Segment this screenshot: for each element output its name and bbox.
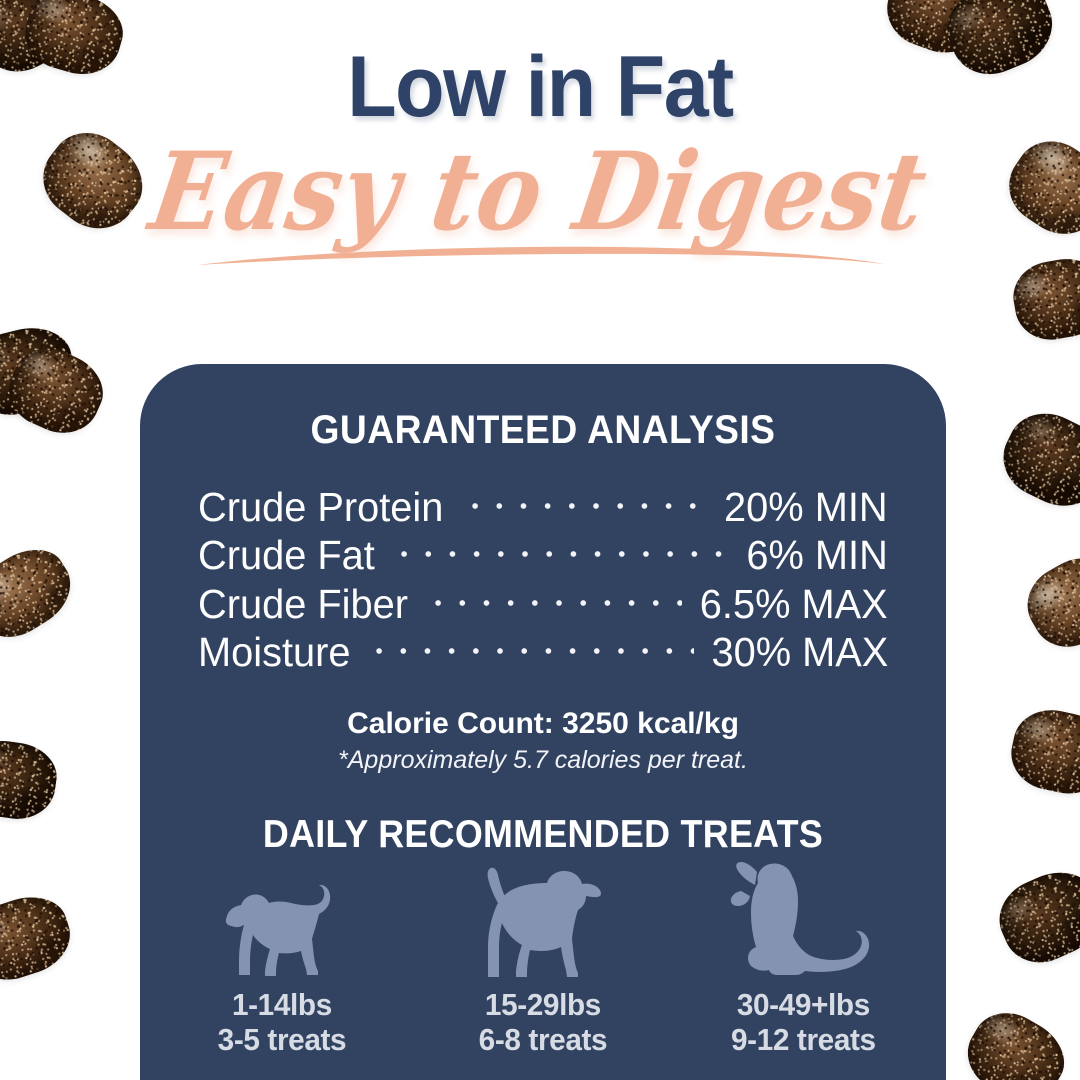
dog-treat-kibble-piece — [991, 400, 1080, 520]
dog-size-guide: 1-14lbs 3-5 treats 15-29lbs 6-8 treats — [140, 875, 946, 1059]
dog-size-label: 30-49+lbs 9-12 treats — [731, 987, 876, 1059]
headline-block: Low in Fat Easy to Digest — [0, 46, 1080, 277]
dog-size-column-large: 30-49+lbs 9-12 treats — [697, 875, 910, 1059]
puppy-silhouette-icon — [219, 875, 345, 979]
leader-dots — [426, 600, 682, 610]
script-headline-wrap: Easy to Digest — [0, 127, 1080, 277]
analysis-value: 30% MAX — [711, 628, 888, 676]
analysis-row: Moisture 30% MAX — [198, 628, 888, 676]
analysis-row: Crude Protein 20% MIN — [198, 483, 888, 531]
leader-dots — [463, 503, 707, 513]
dog-treat-count: 9-12 treats — [731, 1022, 876, 1058]
dog-size-label: 15-29lbs 6-8 treats — [479, 987, 608, 1059]
script-subtitle: Easy to Digest — [144, 120, 937, 245]
medium-dog-silhouette-icon — [475, 875, 611, 979]
dog-size-label: 1-14lbs 3-5 treats — [218, 987, 347, 1059]
dog-size-column-small: 1-14lbs 3-5 treats — [176, 875, 389, 1059]
dog-size-column-medium: 15-29lbs 6-8 treats — [437, 875, 650, 1059]
analysis-label: Moisture — [198, 628, 351, 676]
dog-treat-kibble-piece — [0, 535, 84, 651]
analysis-value: 20% MIN — [724, 483, 888, 531]
dog-weight-range: 30-49+lbs — [731, 987, 876, 1023]
dog-treat-count: 3-5 treats — [218, 1022, 347, 1058]
analysis-row: Crude Fiber 6.5% MAX — [198, 580, 888, 628]
dog-treat-count: 6-8 treats — [479, 1022, 608, 1058]
calorie-count: Calorie Count: 3250 kcal/kg — [140, 707, 946, 741]
calorie-note: *Approximately 5.7 calories per treat. — [140, 746, 946, 775]
dog-treat-kibble-piece — [0, 886, 79, 989]
analysis-value: 6% MIN — [747, 531, 888, 579]
large-sitting-dog-silhouette-icon — [725, 875, 883, 979]
analysis-label: Crude Fiber — [198, 580, 408, 628]
analysis-value: 6.5% MAX — [700, 580, 888, 628]
dog-treat-kibble-piece — [988, 859, 1080, 975]
analysis-row: Crude Fat 6% MIN — [198, 531, 888, 579]
page-title: Low in Fat — [32, 46, 1047, 129]
nutrition-panel: GUARANTEED ANALYSIS Crude Protein 20% MI… — [140, 364, 946, 1080]
guaranteed-analysis-list: Crude Protein 20% MIN Crude Fat 6% MIN C… — [198, 483, 888, 677]
dog-treat-kibble-piece — [0, 736, 61, 824]
dog-treat-kibble-piece — [955, 999, 1077, 1080]
dog-weight-range: 15-29lbs — [479, 987, 608, 1023]
daily-recommended-treats-heading: DAILY RECOMMENDED TREATS — [172, 813, 914, 857]
guaranteed-analysis-heading: GUARANTEED ANALYSIS — [168, 408, 918, 453]
underline-swoosh-icon — [196, 244, 886, 270]
dog-treat-kibble-piece — [1014, 544, 1080, 660]
leader-dots — [392, 551, 730, 561]
dog-weight-range: 1-14lbs — [218, 987, 347, 1023]
infographic-canvas: Low in Fat Easy to Digest GUARANTEED ANA… — [0, 0, 1080, 1080]
calorie-block: Calorie Count: 3250 kcal/kg *Approximate… — [140, 707, 946, 775]
analysis-label: Crude Fat — [198, 531, 375, 579]
analysis-label: Crude Protein — [198, 483, 443, 531]
leader-dots — [367, 648, 693, 658]
dog-treat-kibble-piece — [1005, 703, 1080, 802]
